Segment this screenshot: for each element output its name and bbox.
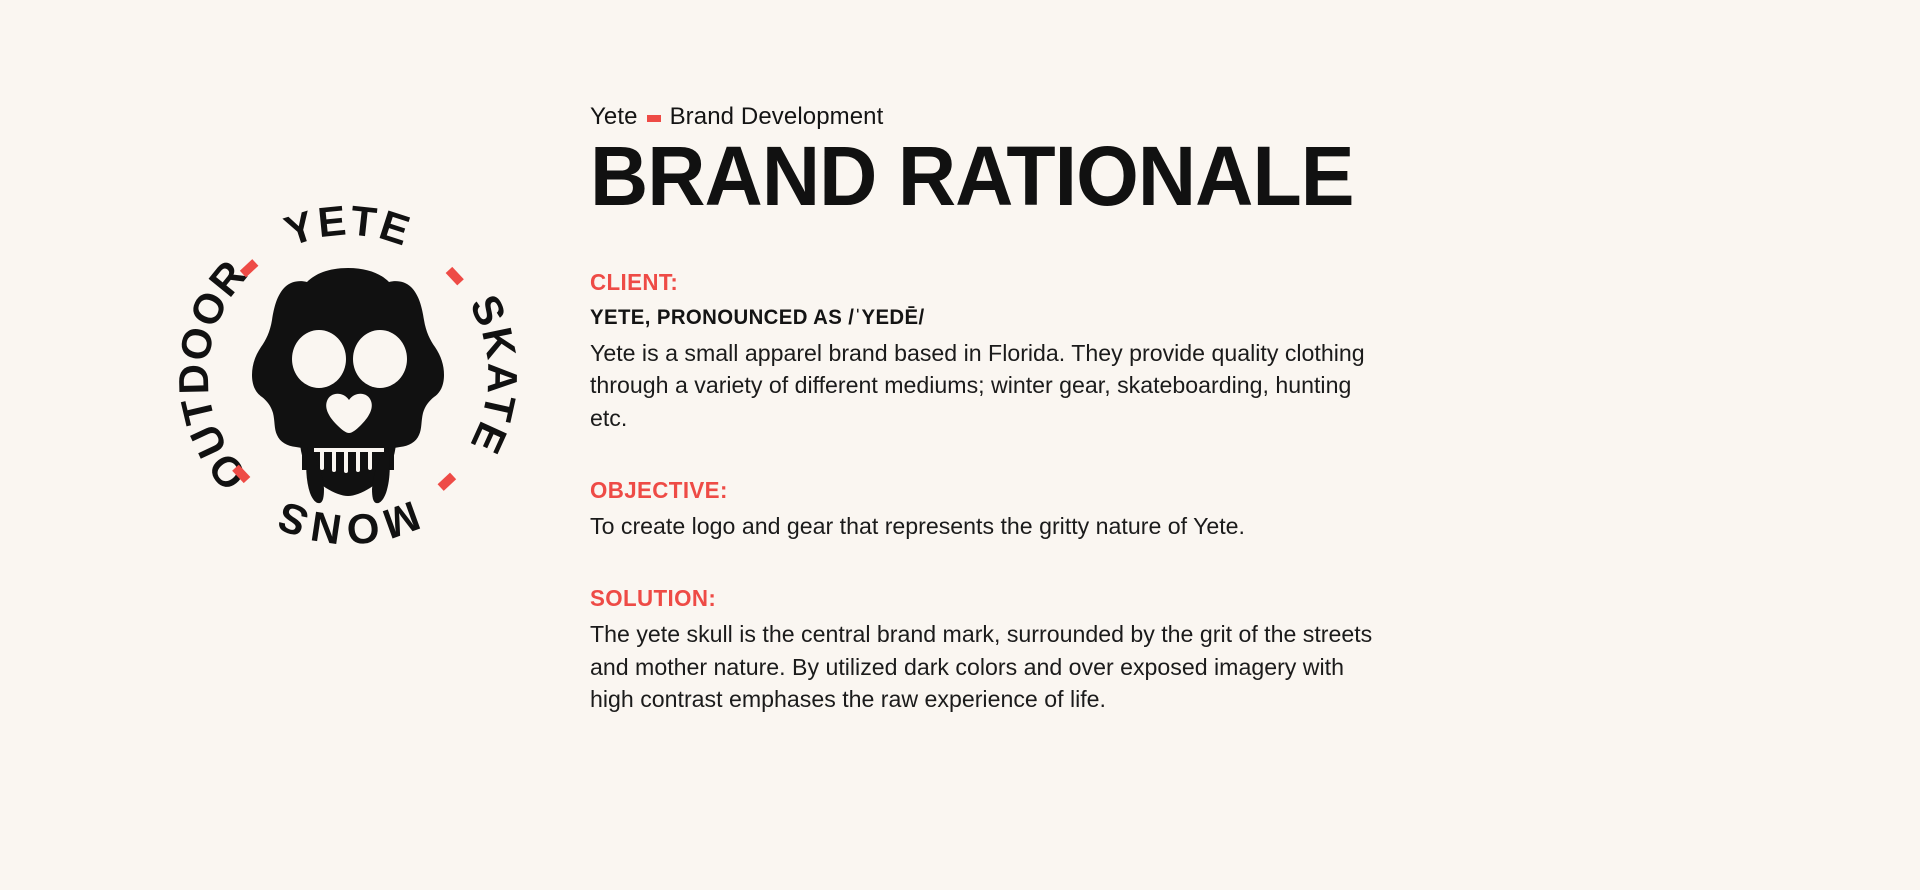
skull-badge-svg: YETE SKATE MONS OUTDOOR xyxy=(168,195,528,555)
section-solution: SOLUTION: The yete skull is the central … xyxy=(590,586,1430,715)
eyebrow-subtitle: Brand Development xyxy=(670,104,884,130)
red-dash-icon xyxy=(438,473,457,491)
tooth-gap xyxy=(368,450,372,470)
section-heading-solution: SOLUTION: xyxy=(590,586,1405,611)
section-objective: OBJECTIVE: To create logo and gear that … xyxy=(590,478,1430,542)
rationale-content: Yete Brand Development BRAND RATIONALE C… xyxy=(590,104,1430,715)
ring-word-skate: SKATE xyxy=(461,288,526,462)
red-dash-separator-icon xyxy=(647,115,661,122)
slide-canvas: YETE SKATE MONS OUTDOOR xyxy=(0,0,1920,890)
ring-word-yete: YETE xyxy=(279,196,417,255)
ring-word-mons: MONS xyxy=(269,492,425,554)
red-dash-icon xyxy=(446,267,464,286)
eyebrow: Yete Brand Development xyxy=(590,104,1430,130)
section-heading-objective: OBJECTIVE: xyxy=(590,478,1405,503)
ring-word-outdoor: OUTDOOR xyxy=(170,251,256,499)
eyebrow-brand: Yete xyxy=(590,104,638,130)
page-title: BRAND RATIONALE xyxy=(590,138,1396,215)
yete-skull-badge: YETE SKATE MONS OUTDOOR xyxy=(168,195,528,555)
section-heading-client: CLIENT: xyxy=(590,270,1405,295)
eye-socket-right-icon xyxy=(353,330,407,388)
tooth-gap xyxy=(332,450,336,472)
tooth-gap xyxy=(356,450,360,472)
section-body-objective: To create logo and gear that represents … xyxy=(590,510,1280,542)
section-subheading-client: YETE, PRONOUNCED AS /ˈYEDĒ/ xyxy=(590,305,1405,330)
eye-socket-left-icon xyxy=(292,330,346,388)
section-body-client: Yete is a small apparel brand based in F… xyxy=(590,337,1373,434)
tooth-gap xyxy=(344,450,348,473)
section-body-solution: The yete skull is the central brand mark… xyxy=(590,618,1378,715)
tooth-gap xyxy=(320,450,324,470)
section-client: CLIENT: YETE, PRONOUNCED AS /ˈYEDĒ/ Yete… xyxy=(590,270,1430,434)
